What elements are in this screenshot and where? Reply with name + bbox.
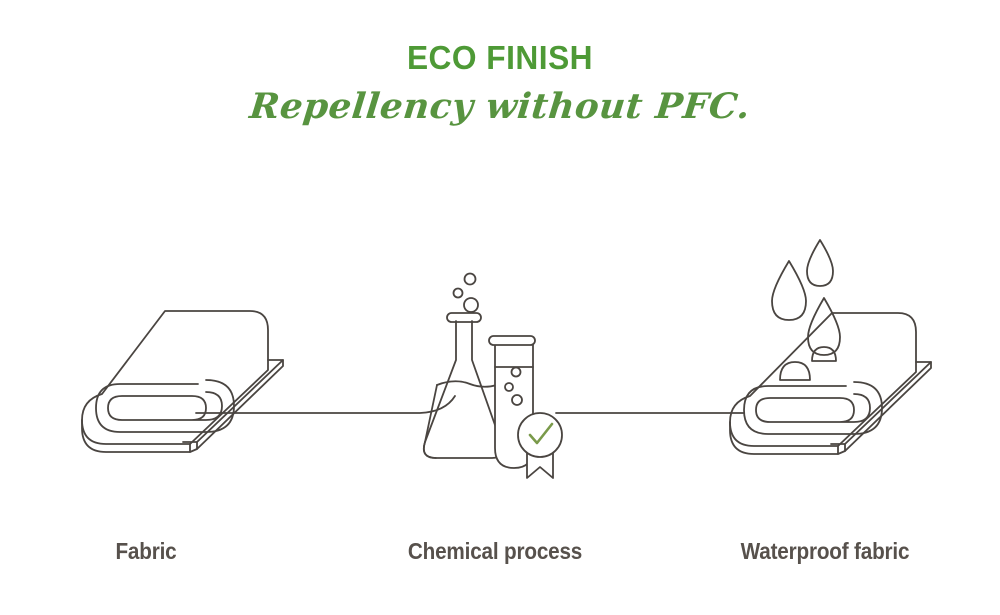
water-droplet-icon-2 xyxy=(772,261,806,320)
bubble-icon-2 xyxy=(454,289,463,298)
fabric-spiral-outer xyxy=(96,380,234,432)
waterproof-fabric-corner-joint xyxy=(838,451,845,454)
step-labels: Fabric Chemical process Waterproof fabri… xyxy=(0,538,1000,578)
water-droplet-icon-1 xyxy=(807,240,833,286)
fabric-top-sheet xyxy=(82,311,268,444)
fabric-bottom-thickness xyxy=(82,420,190,452)
waterproof-fabric-spiral-outer xyxy=(744,382,882,434)
bubble-icon-1 xyxy=(465,274,476,285)
process-diagram xyxy=(0,0,1000,615)
test-tube-rim xyxy=(489,336,535,345)
fabric-corner-joint xyxy=(190,449,197,452)
eco-finish-infographic: ECO FINISH Repellency without PFC. xyxy=(0,0,1000,615)
folded-fabric-with-water-drops-icon xyxy=(730,240,931,454)
waterproof-fabric-bottom-thickness xyxy=(730,422,838,454)
step-label-chemical-process: Chemical process xyxy=(356,538,635,565)
badge-circle xyxy=(518,413,562,457)
beaded-droplet-icon-1 xyxy=(780,362,810,380)
flask-and-test-tube-icon xyxy=(424,274,562,479)
step-label-fabric: Fabric xyxy=(15,538,278,565)
flask-liquid-left-edge xyxy=(424,385,437,458)
step-label-waterproof-fabric: Waterproof fabric xyxy=(690,538,960,565)
bubble-icon-3 xyxy=(464,298,478,312)
waterproof-fabric-spiral-roll xyxy=(756,394,870,422)
waterproof-fabric-top-sheet xyxy=(730,313,916,446)
flask-rim xyxy=(447,313,481,322)
fabric-spiral-roll xyxy=(108,392,222,420)
folded-fabric-icon xyxy=(82,311,283,452)
